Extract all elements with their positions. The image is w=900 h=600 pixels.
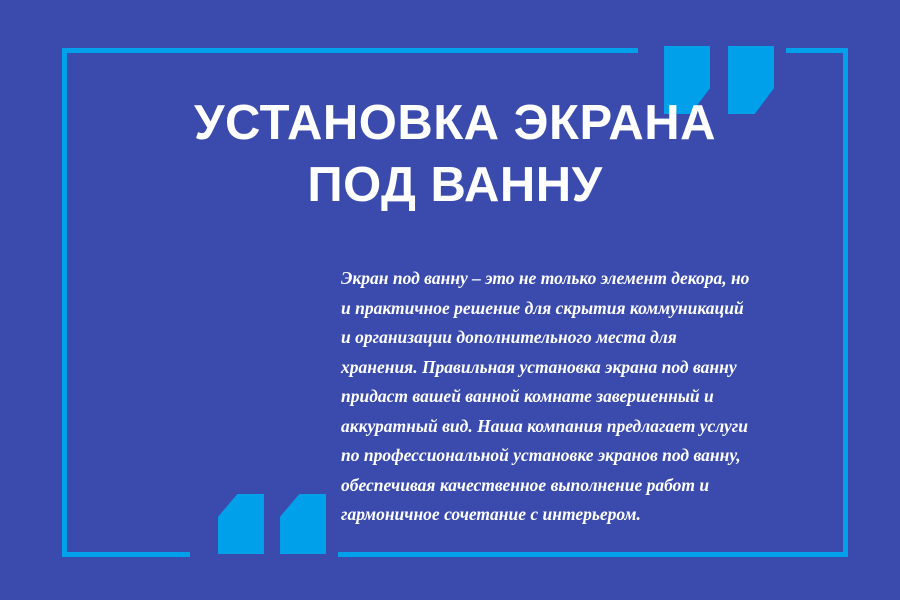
quote-open-bar-2 xyxy=(280,494,326,554)
page-title-line-1: УСТАНОВКА ЭКРАНА xyxy=(62,92,848,154)
page-title-line-2: ПОД ВАННУ xyxy=(62,154,848,216)
quote-open-icon xyxy=(218,494,326,554)
quote-open-bar-1 xyxy=(218,494,264,554)
frame-border-bottom-right-segment xyxy=(338,552,848,557)
frame-border-top-right-segment xyxy=(786,48,848,53)
poster-canvas: УСТАНОВКА ЭКРАНА ПОД ВАННУ Экран под ван… xyxy=(0,0,900,600)
body-text: Экран под ванну – это не только элемент … xyxy=(341,264,753,530)
frame-border-top-left-segment xyxy=(62,48,638,53)
page-title: УСТАНОВКА ЭКРАНА ПОД ВАННУ xyxy=(62,92,848,216)
frame-border-bottom-left-segment xyxy=(62,552,190,557)
body-paragraph: Экран под ванну – это не только элемент … xyxy=(341,264,753,530)
